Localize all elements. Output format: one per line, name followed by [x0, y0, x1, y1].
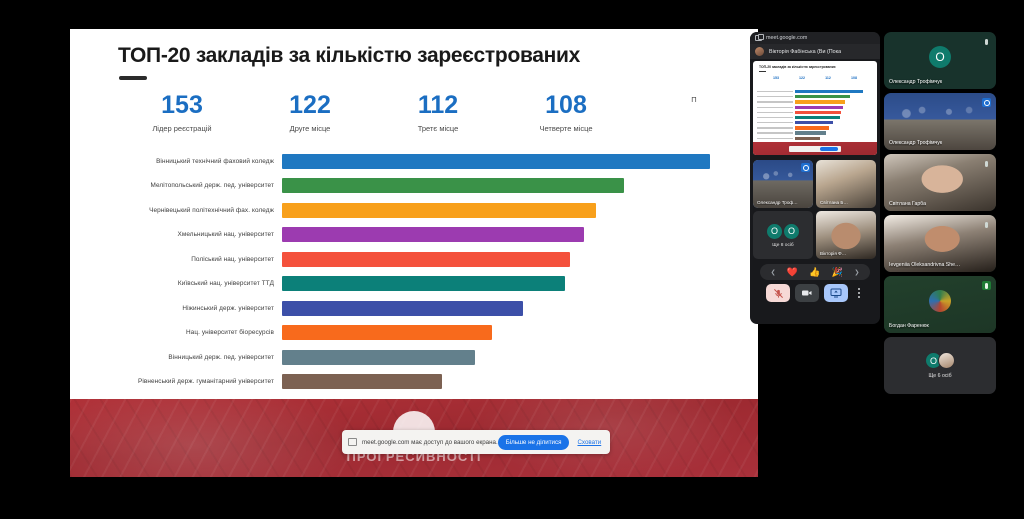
mini-chart-rows	[757, 89, 875, 141]
present-screen-icon	[830, 287, 842, 299]
more-participants-label: Ще 8 осіб	[772, 243, 793, 248]
bar-category-label: Нац. університет біоресурсів	[70, 329, 282, 336]
mini-bar-label	[757, 91, 793, 92]
bar	[282, 350, 475, 365]
bar	[282, 227, 584, 242]
mini-bar	[795, 100, 845, 103]
bar-category-label: Вінницький технічний фаховий коледж	[70, 158, 282, 165]
mini-share-toast	[789, 146, 841, 152]
avatar	[929, 290, 951, 312]
participant-tile[interactable]: Олександр Троф…	[753, 160, 813, 208]
bar-track	[282, 321, 758, 346]
sidebar-participant-tile[interactable]: Олександр Трофімчук	[884, 93, 996, 150]
mic-icon	[982, 37, 991, 46]
participant-name: Богдан Фаренюк	[889, 323, 929, 329]
mic-icon	[982, 220, 991, 229]
more-vertical-icon	[858, 288, 860, 298]
screen-share-icon	[755, 35, 762, 41]
kpi-label: Третє місце	[374, 124, 502, 133]
mini-bar-label	[757, 132, 793, 133]
kpi-card: 122 Друге місце	[246, 91, 374, 133]
participant-name: Ievgeniia Oleksandrivna She…	[889, 262, 960, 268]
bar-track	[282, 272, 758, 297]
bar-category-label: Київський нац. університет ТТД	[70, 280, 282, 287]
participant-name: Вікторія Ф…	[820, 251, 846, 256]
hide-toast-link[interactable]: Сховати	[577, 439, 601, 446]
avatar: О	[783, 223, 800, 240]
mini-bar-label	[757, 107, 793, 108]
mini-bar-label	[757, 127, 793, 128]
avatar: О	[929, 46, 951, 68]
bar-track	[282, 149, 758, 174]
mini-bar	[795, 106, 843, 109]
participant-tile[interactable]: Вікторія Ф…	[816, 211, 876, 259]
kpi-card: 153 Лідер реєстрацій	[118, 91, 246, 133]
mini-kpi: 112	[815, 76, 841, 80]
more-participants-tile[interactable]: О О Ще 8 осіб	[753, 211, 813, 259]
bar-track	[282, 223, 758, 248]
mini-bar	[795, 90, 863, 93]
meet-self-view-panel[interactable]: meet.google.com Вікторія Фабінська (Ви (…	[750, 32, 880, 324]
bar-track	[282, 247, 758, 272]
shared-screen-preview[interactable]: ТОП-20 закладів за кількістю зареєстрова…	[753, 61, 877, 155]
present-screen-button[interactable]	[824, 284, 848, 302]
mini-bar	[795, 121, 833, 124]
bar-category-label: Рівненський держ. гуманітарний університ…	[70, 378, 282, 385]
mini-stop-sharing-button	[820, 147, 838, 150]
participant-name: Олександр Троф…	[757, 200, 798, 205]
bar-category-label: Мелітопольський держ. пед. університет	[70, 182, 282, 189]
bar	[282, 154, 710, 169]
heart-emoji-icon[interactable]: ❤️	[787, 268, 798, 277]
bar-category-label: Ніжинський держ. університет	[70, 305, 282, 312]
kpi-card: 108 Четверте місце	[502, 91, 630, 133]
kpi-card-partial: П	[630, 91, 758, 133]
mini-chart-row	[757, 136, 875, 141]
more-participants-label: Ще 6 осіб	[928, 373, 951, 379]
kpi-row: 153 Лідер реєстрацій 122 Друге місце 112…	[118, 91, 758, 133]
share-toast-text: meet.google.com має доступ до вашого екр…	[362, 439, 498, 446]
participant-name: Олександр Трофімчук	[889, 79, 942, 85]
bar-category-label: Вінницький держ. пед. університет	[70, 354, 282, 361]
stop-sharing-button[interactable]: Більше не ділитися	[498, 435, 570, 450]
camera-icon	[801, 287, 813, 299]
sidebar-participant-tile[interactable]: Ievgeniia Oleksandrivna She…	[884, 215, 996, 272]
bar	[282, 301, 523, 316]
mic-off-icon	[773, 288, 784, 299]
bar-category-label: Поліський нац. університет	[70, 256, 282, 263]
title-underline-rule	[119, 76, 147, 80]
meet-control-bar	[756, 284, 874, 302]
more-avatars: О О	[766, 223, 800, 240]
bar-track	[282, 370, 758, 395]
bar-track	[282, 174, 758, 199]
more-options-button[interactable]	[853, 284, 864, 302]
mini-bar	[795, 126, 829, 129]
shared-screen-region: ТОП-20 закладів за кількістю зареєстрова…	[70, 29, 758, 477]
bar	[282, 374, 442, 389]
participant-name: Олександр Трофімчук	[889, 140, 942, 146]
chart-row: Чернівецький політехнічний фах. коледж	[70, 198, 758, 223]
bar	[282, 178, 624, 193]
participants-sidebar: О Олександр Трофімчук Олександр Трофімчу…	[884, 32, 996, 399]
mini-bar	[795, 95, 850, 98]
thumbs-up-emoji-icon[interactable]: 👍	[809, 268, 820, 277]
kpi-label: Четверте місце	[502, 124, 630, 133]
mic-icon	[982, 159, 991, 168]
bar	[282, 276, 565, 291]
kpi-card: 112 Третє місце	[374, 91, 502, 133]
reactions-bar[interactable]: ❮ ❤️ 👍 🎉 ❯	[760, 264, 870, 280]
camera-button[interactable]	[795, 284, 819, 302]
meet-panel-url-bar: meet.google.com	[750, 32, 880, 44]
presenting-badge-icon	[982, 98, 991, 107]
meet-panel-tiles: Олександр Троф… Світлана Б… О О Ще 8 осі…	[750, 157, 880, 262]
avatar: О	[766, 223, 783, 240]
chart-row: Вінницький технічний фаховий коледж	[70, 149, 758, 174]
bar-track	[282, 296, 758, 321]
presenter-name: Вікторія Фабінська (Ви (Пока	[769, 49, 841, 55]
mini-kpi-row: 153 122 112 108	[763, 76, 867, 80]
bar-category-label: Чернівецький політехнічний фах. коледж	[70, 207, 282, 214]
avatar	[938, 352, 955, 369]
more-avatars: О	[925, 352, 955, 369]
participant-name: Світлана Гарба	[889, 201, 926, 207]
chart-row: Ніжинський держ. університет	[70, 296, 758, 321]
bar-track	[282, 198, 758, 223]
mini-bar	[795, 137, 820, 140]
chart-row: Нац. університет біоресурсів	[70, 321, 758, 346]
kpi-label: П	[630, 95, 758, 104]
meet-panel-url: meet.google.com	[766, 35, 807, 41]
microphone-muted-button[interactable]	[766, 284, 790, 302]
chart-row: Хмельницький нац. університет	[70, 223, 758, 248]
chart-row: Поліський нац. університет	[70, 247, 758, 272]
chart-row: Рівненський держ. гуманітарний університ…	[70, 370, 758, 395]
chevron-left-icon[interactable]: ❮	[771, 269, 776, 276]
mini-bar-label	[757, 138, 793, 139]
mini-bar	[795, 116, 840, 119]
bar-chart: Вінницький технічний фаховий коледжМеліт…	[70, 149, 758, 399]
bar-category-label: Хмельницький нац. університет	[70, 231, 282, 238]
mini-bar-label	[757, 101, 793, 102]
mini-preview-title: ТОП-20 закладів за кількістю зареєстрова…	[759, 65, 836, 69]
mini-bar	[795, 131, 826, 134]
presenting-badge-icon	[801, 163, 810, 172]
sidebar-participant-tile[interactable]: Світлана Гарба	[884, 154, 996, 211]
mini-bar-label	[757, 112, 793, 113]
kpi-label: Лідер реєстрацій	[118, 124, 246, 133]
chart-rows: Вінницький технічний фаховий коледжМеліт…	[70, 149, 758, 394]
sidebar-participant-tile[interactable]: Богдан Фаренюк	[884, 276, 996, 333]
kpi-value: 112	[374, 91, 502, 120]
chart-row: Вінницький держ. пед. університет	[70, 345, 758, 370]
avatar	[755, 47, 764, 56]
mini-bar-label	[757, 122, 793, 123]
sidebar-participant-tile[interactable]: О Олександр Трофімчук	[884, 32, 996, 89]
kpi-value: 108	[502, 91, 630, 120]
participant-name: Світлана Б…	[820, 200, 848, 205]
mic-active-icon	[982, 281, 991, 290]
bar	[282, 203, 596, 218]
chevron-right-icon[interactable]: ❯	[854, 269, 859, 276]
screen-share-icon	[348, 438, 357, 446]
chart-row: Київський нац. університет ТТД	[70, 272, 758, 297]
mini-kpi: 153	[763, 76, 789, 80]
mini-kpi: 108	[841, 76, 867, 80]
chart-row: Мелітопольський держ. пед. університет	[70, 174, 758, 199]
kpi-value: 122	[246, 91, 374, 120]
bar-track	[282, 345, 758, 370]
mini-title-rule	[759, 71, 766, 72]
mini-kpi: 122	[789, 76, 815, 80]
screen-share-toast[interactable]: meet.google.com має доступ до вашого екр…	[342, 430, 610, 454]
mini-bar-label	[757, 117, 793, 118]
sidebar-more-participants-tile[interactable]: О Ще 6 осіб	[884, 337, 996, 394]
party-popper-emoji-icon[interactable]: 🎉	[832, 268, 843, 277]
kpi-value: 153	[118, 91, 246, 120]
participant-tile[interactable]: Світлана Б…	[816, 160, 876, 208]
page-title: ТОП-20 закладів за кількістю зареєстрова…	[118, 44, 580, 68]
bar	[282, 252, 570, 267]
mini-bar-label	[757, 96, 793, 97]
bar	[282, 325, 492, 340]
kpi-label: Друге місце	[246, 124, 374, 133]
meet-presenter-row: Вікторія Фабінська (Ви (Пока	[750, 44, 880, 59]
mini-bar	[795, 111, 841, 114]
presentation-slide: ТОП-20 закладів за кількістю зареєстрова…	[70, 29, 758, 477]
